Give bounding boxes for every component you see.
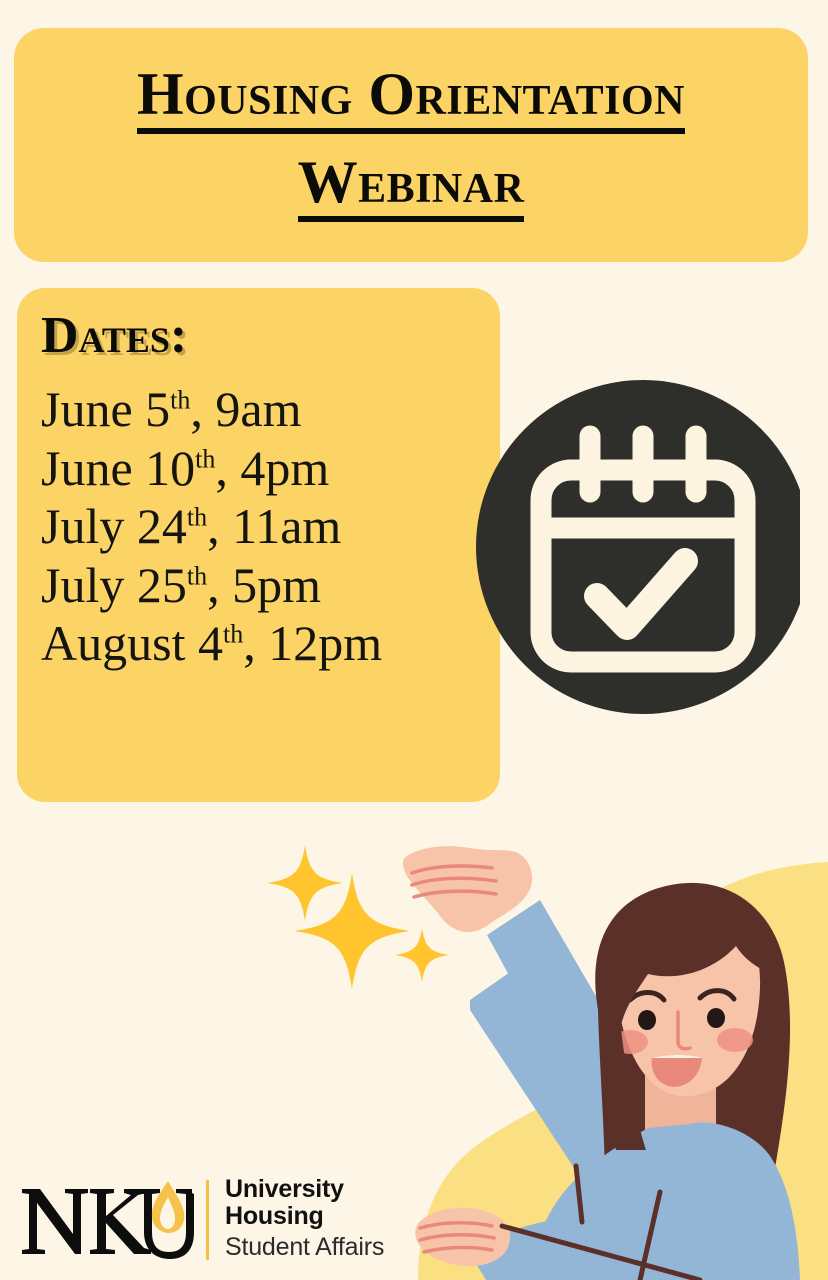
date-time: , 5pm — [207, 557, 321, 613]
date-item: June 10th, 4pm — [41, 439, 500, 498]
date-month-day: June 5 — [41, 381, 170, 437]
logo-divider — [206, 1180, 209, 1260]
date-item: August 4th, 12pm — [41, 614, 500, 673]
nku-wordmark-icon — [18, 1177, 196, 1263]
date-month-day: July 24 — [41, 498, 187, 554]
date-ordinal: th — [223, 619, 243, 648]
logo-line-university: University — [225, 1176, 384, 1203]
dates-list: June 5th, 9am June 10th, 4pm July 24th, … — [41, 380, 500, 673]
date-time: , 4pm — [215, 440, 329, 496]
date-month-day: July 25 — [41, 557, 187, 613]
date-item: June 5th, 9am — [41, 380, 500, 439]
poster-title-line-2: Webinar — [298, 150, 525, 222]
calendar-check-icon — [466, 352, 800, 736]
date-ordinal: th — [187, 502, 207, 531]
date-ordinal: th — [170, 385, 190, 414]
dates-heading: Dates: — [41, 310, 500, 362]
nku-logo: University Housing Student Affairs — [18, 1176, 410, 1264]
date-time: , 11am — [207, 498, 341, 554]
poster-title-line-1: Housing Orientation — [137, 62, 685, 134]
sparkle-icon-small-top — [267, 845, 343, 921]
date-time: , 12pm — [243, 615, 382, 671]
date-item: July 25th, 5pm — [41, 556, 500, 615]
date-month-day: August 4 — [41, 615, 223, 671]
date-ordinal: th — [195, 444, 215, 473]
logo-line-student-affairs: Student Affairs — [225, 1231, 384, 1264]
date-month-day: June 10 — [41, 440, 195, 496]
date-time: , 9am — [190, 381, 301, 437]
date-item: July 24th, 11am — [41, 497, 500, 556]
dates-panel: Dates: June 5th, 9am June 10th, 4pm July… — [17, 288, 500, 802]
sparkle-icon-small-bottom — [395, 928, 449, 982]
logo-line-housing: Housing — [225, 1203, 384, 1230]
title-panel: Housing Orientation Webinar — [14, 28, 808, 262]
flame-icon — [152, 1181, 184, 1233]
date-ordinal: th — [187, 561, 207, 590]
poster-canvas: Housing Orientation Webinar Dates: June … — [0, 0, 828, 1280]
logo-text-block: University Housing Student Affairs — [225, 1176, 384, 1264]
